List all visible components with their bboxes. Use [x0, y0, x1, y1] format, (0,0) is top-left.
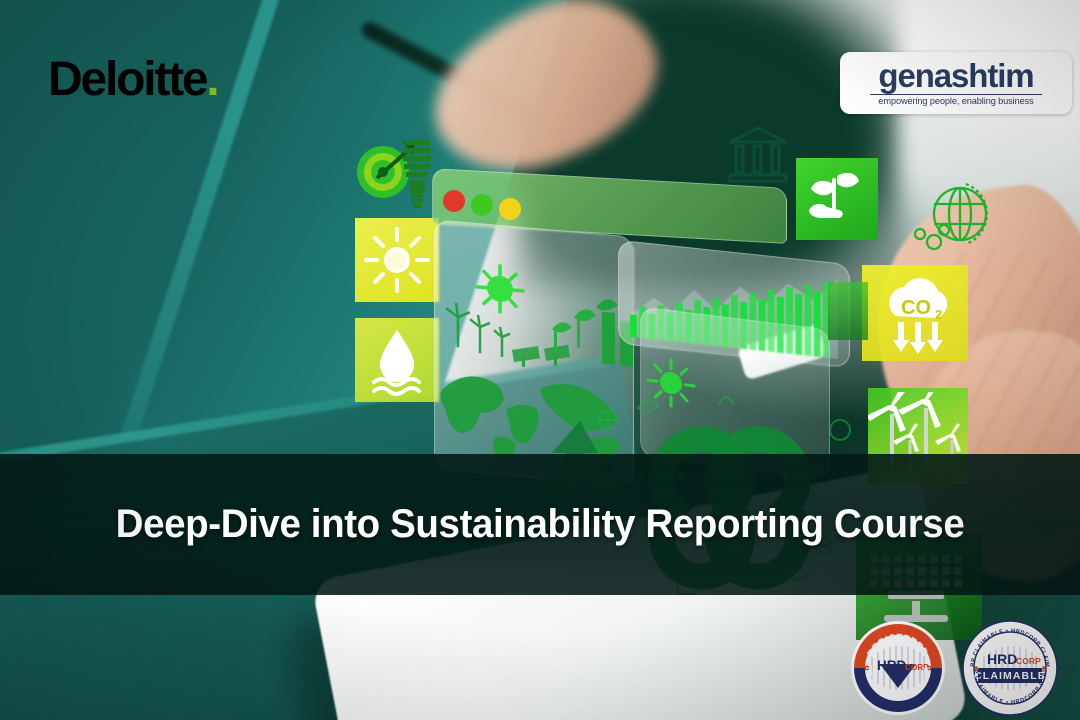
mini-chart-tile	[828, 282, 868, 340]
promotional-banner: CO 2	[0, 0, 1080, 720]
water-drop-icon	[364, 324, 430, 396]
traffic-light-red	[443, 190, 465, 212]
page-title: Deep-Dive into Sustainability Reporting …	[14, 454, 1067, 595]
bank-institution-icon	[726, 124, 790, 186]
genashtim-logo: genashtim empowering people, enabling bu…	[840, 52, 1072, 114]
claimable-badge-center-suffix: CORP	[1016, 656, 1041, 666]
claimable-badge-band-text: CLAIMABLE	[974, 670, 1046, 682]
claimable-badge-center-text: HRD	[987, 651, 1017, 667]
genashtim-rule	[870, 94, 1042, 95]
hrd-corp-registered-training-provider-badge: HRD CORP REGISTERED TRAINING PROVIDER	[850, 620, 946, 716]
co2-cloud-icon: CO 2	[868, 272, 964, 358]
deloitte-wordmark: Deloitte	[48, 53, 206, 106]
globe-gears-icon	[908, 178, 994, 264]
traffic-light-yellow	[499, 198, 521, 220]
genashtim-tagline: empowering people, enabling business	[878, 97, 1033, 106]
hrd-badge-center-text: HRD	[877, 658, 906, 673]
deloitte-dot: .	[206, 53, 217, 106]
svg-text:CO: CO	[901, 297, 931, 319]
hrd-corp-claimable-badge: HRD CORP CLAIMABLE HRDCORP CLAIMABLE • H…	[962, 620, 1058, 716]
hand-plant-icon	[803, 166, 871, 232]
genashtim-wordmark: genashtim	[878, 59, 1033, 92]
traffic-light-green	[471, 194, 493, 216]
deloitte-logo: Deloitte.	[48, 52, 218, 107]
sun-energy-icon	[362, 225, 432, 295]
svg-text:2: 2	[935, 307, 942, 322]
